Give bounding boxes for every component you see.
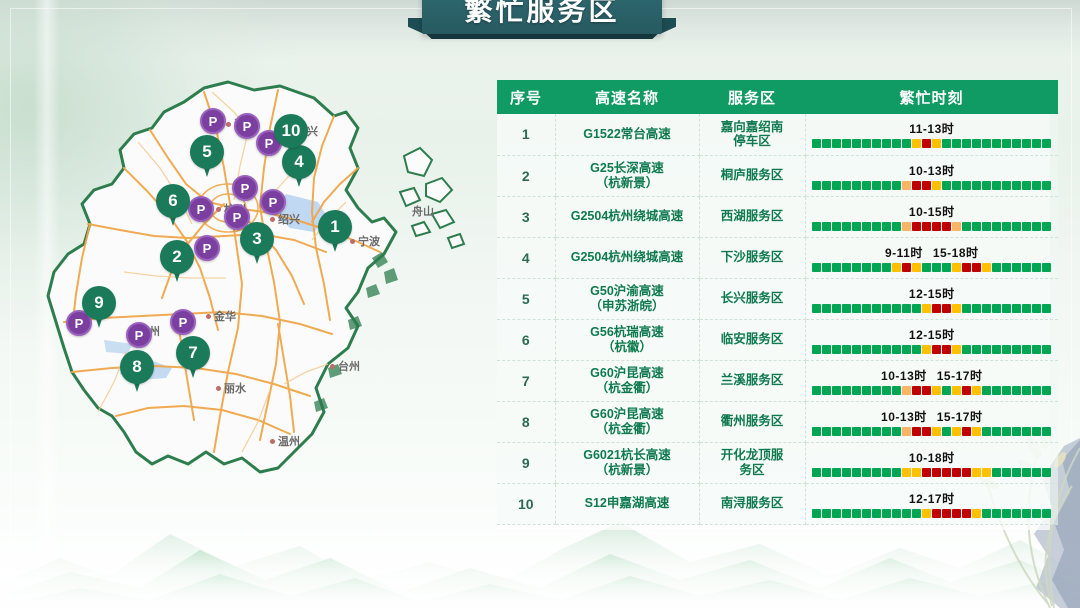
congestion-cell xyxy=(902,345,911,354)
congestion-cell xyxy=(1032,427,1041,436)
cell-highway-name: G56杭瑞高速（杭徽） xyxy=(555,319,699,360)
congestion-cell xyxy=(872,139,881,148)
congestion-cell xyxy=(992,509,1001,518)
busy-time-labels: 10-15时 xyxy=(909,203,955,220)
congestion-cell xyxy=(992,263,1001,272)
congestion-cell xyxy=(852,345,861,354)
cell-busy-time: 10-13时15-17时 xyxy=(805,401,1058,442)
congestion-cell xyxy=(902,427,911,436)
congestion-cell xyxy=(872,427,881,436)
title-banner: 繁忙服务区 xyxy=(408,0,676,46)
congestion-cell xyxy=(812,468,821,477)
busy-time-labels: 12-15时 xyxy=(909,326,955,343)
cell-index: 1 xyxy=(497,114,555,155)
congestion-cell xyxy=(1032,468,1041,477)
congestion-cell xyxy=(972,386,981,395)
congestion-cell xyxy=(1042,468,1051,477)
cell-highway-name: G2504杭州绕城高速 xyxy=(555,237,699,278)
congestion-cell xyxy=(862,222,871,231)
table-row[interactable]: 1G1522常台高速嘉向嘉绍南停车区11-13时 xyxy=(497,114,1058,155)
congestion-cell xyxy=(932,468,941,477)
congestion-cell xyxy=(822,509,831,518)
city-dot xyxy=(206,314,211,319)
col-header-busy-time: 繁忙时刻 xyxy=(805,80,1058,114)
congestion-cell xyxy=(922,386,931,395)
congestion-cell xyxy=(1002,386,1011,395)
page-title: 繁忙服务区 xyxy=(422,0,662,34)
congestion-cell xyxy=(962,509,971,518)
congestion-cell xyxy=(1042,427,1051,436)
congestion-cell xyxy=(812,263,821,272)
cell-service-area: 临安服务区 xyxy=(699,319,805,360)
cell-index: 6 xyxy=(497,319,555,360)
table-header-row: 序号 高速名称 服务区 繁忙时刻 xyxy=(497,80,1058,114)
map-marker-6[interactable]: 6 xyxy=(156,184,190,226)
congestion-cell xyxy=(822,345,831,354)
table-row[interactable]: 5G50沪渝高速（申苏浙皖）长兴服务区12-15时 xyxy=(497,278,1058,319)
col-header-service-area: 服务区 xyxy=(699,80,805,114)
parking-pin-icon[interactable]: P xyxy=(260,189,286,215)
congestion-cell xyxy=(1022,263,1031,272)
congestion-cell xyxy=(1002,139,1011,148)
table-row[interactable]: 8G60沪昆高速（杭金衢）衢州服务区10-13时15-17时 xyxy=(497,401,1058,442)
congestion-cell xyxy=(842,468,851,477)
congestion-cell xyxy=(962,345,971,354)
congestion-cell xyxy=(1022,304,1031,313)
congestion-cell xyxy=(852,509,861,518)
cell-busy-time: 10-15时 xyxy=(805,196,1058,237)
congestion-cell xyxy=(902,181,911,190)
cell-service-area: 衢州服务区 xyxy=(699,401,805,442)
congestion-cell xyxy=(812,427,821,436)
congestion-cell xyxy=(862,139,871,148)
city-label-shaoxing: 绍兴 xyxy=(278,211,300,227)
cell-service-area: 南浔服务区 xyxy=(699,483,805,524)
congestion-cell xyxy=(1022,139,1031,148)
congestion-cell xyxy=(982,386,991,395)
congestion-cell xyxy=(962,222,971,231)
congestion-cell xyxy=(842,345,851,354)
congestion-cell xyxy=(942,263,951,272)
congestion-cell xyxy=(962,427,971,436)
congestion-cell xyxy=(1032,181,1041,190)
congestion-cell xyxy=(822,139,831,148)
cell-busy-time: 10-13时 xyxy=(805,155,1058,196)
congestion-cell xyxy=(902,386,911,395)
congestion-cell xyxy=(1012,139,1021,148)
congestion-cell xyxy=(862,509,871,518)
cell-highway-name: G2504杭州绕城高速 xyxy=(555,196,699,237)
congestion-cell xyxy=(982,427,991,436)
congestion-cell xyxy=(882,181,891,190)
busy-time-labels: 12-15时 xyxy=(909,285,955,302)
hourly-congestion-bar xyxy=(812,181,1051,190)
congestion-cell xyxy=(832,468,841,477)
cell-service-area: 西湖服务区 xyxy=(699,196,805,237)
congestion-cell xyxy=(822,222,831,231)
table-row[interactable]: 7G60沪昆高速（杭金衢）兰溪服务区10-13时15-17时 xyxy=(497,360,1058,401)
congestion-cell xyxy=(952,345,961,354)
congestion-cell xyxy=(912,139,921,148)
congestion-cell xyxy=(872,181,881,190)
congestion-cell xyxy=(1032,509,1041,518)
table-row[interactable]: 4G2504杭州绕城高速下沙服务区9-11时15-18时 xyxy=(497,237,1058,278)
congestion-cell xyxy=(862,427,871,436)
congestion-cell xyxy=(842,427,851,436)
cell-index: 4 xyxy=(497,237,555,278)
cell-index: 7 xyxy=(497,360,555,401)
congestion-cell xyxy=(902,304,911,313)
congestion-cell xyxy=(1022,345,1031,354)
congestion-cell xyxy=(892,181,901,190)
congestion-cell xyxy=(902,139,911,148)
cell-index: 9 xyxy=(497,442,555,483)
busy-time-label: 12-15时 xyxy=(909,285,955,302)
cell-highway-name: G60沪昆高速（杭金衢） xyxy=(555,360,699,401)
congestion-cell xyxy=(992,386,1001,395)
city-label-jinhua: 金华 xyxy=(214,308,236,324)
congestion-cell xyxy=(832,263,841,272)
congestion-cell xyxy=(1002,304,1011,313)
map-marker-4[interactable]: 4 xyxy=(282,145,316,187)
table-body: 1G1522常台高速嘉向嘉绍南停车区11-13时2G25长深高速（杭新景）桐庐服… xyxy=(497,114,1058,524)
congestion-cell xyxy=(882,304,891,313)
congestion-cell xyxy=(952,139,961,148)
congestion-cell xyxy=(862,263,871,272)
congestion-cell xyxy=(942,181,951,190)
congestion-cell xyxy=(922,181,931,190)
busy-time-label: 9-11时 xyxy=(885,244,923,261)
congestion-cell xyxy=(822,468,831,477)
congestion-cell xyxy=(1002,345,1011,354)
congestion-cell xyxy=(842,263,851,272)
congestion-cell xyxy=(932,345,941,354)
cell-service-area: 兰溪服务区 xyxy=(699,360,805,401)
cell-index: 3 xyxy=(497,196,555,237)
congestion-cell xyxy=(1002,468,1011,477)
city-label-zhoushan: 舟山 xyxy=(412,203,434,219)
parking-pin-icon[interactable]: P xyxy=(232,175,258,201)
congestion-cell xyxy=(892,304,901,313)
congestion-cell xyxy=(882,386,891,395)
congestion-cell xyxy=(1002,222,1011,231)
congestion-cell xyxy=(952,181,961,190)
congestion-cell xyxy=(982,263,991,272)
table-row[interactable]: 6G56杭瑞高速（杭徽）临安服务区12-15时 xyxy=(497,319,1058,360)
congestion-cell xyxy=(852,263,861,272)
map-marker-label: 5 xyxy=(190,135,224,169)
hourly-congestion-bar xyxy=(812,427,1051,436)
congestion-cell xyxy=(1022,181,1031,190)
congestion-cell xyxy=(972,468,981,477)
congestion-cell xyxy=(962,263,971,272)
congestion-cell xyxy=(962,304,971,313)
hourly-congestion-bar xyxy=(812,263,1051,272)
map-marker-label: 10 xyxy=(274,114,308,148)
congestion-cell xyxy=(872,222,881,231)
congestion-cell xyxy=(832,386,841,395)
congestion-cell xyxy=(892,509,901,518)
city-dot xyxy=(216,207,221,212)
congestion-cell xyxy=(912,304,921,313)
congestion-cell xyxy=(832,222,841,231)
congestion-cell xyxy=(1012,509,1021,518)
busy-time-label: 15-18时 xyxy=(933,244,979,261)
map-marker-label: 3 xyxy=(240,222,274,256)
congestion-cell xyxy=(882,345,891,354)
congestion-cell xyxy=(992,345,1001,354)
congestion-cell xyxy=(952,386,961,395)
congestion-cell xyxy=(822,263,831,272)
busy-time-labels: 9-11时15-18时 xyxy=(885,244,979,261)
congestion-cell xyxy=(982,139,991,148)
cell-index: 2 xyxy=(497,155,555,196)
busy-time-label: 10-18时 xyxy=(909,449,955,466)
col-header-highway: 高速名称 xyxy=(555,80,699,114)
congestion-cell xyxy=(812,345,821,354)
busy-service-area-table: 序号 高速名称 服务区 繁忙时刻 1G1522常台高速嘉向嘉绍南停车区11-13… xyxy=(497,80,1050,530)
congestion-cell xyxy=(972,509,981,518)
congestion-cell xyxy=(852,222,861,231)
congestion-cell xyxy=(832,139,841,148)
congestion-cell xyxy=(892,386,901,395)
congestion-cell xyxy=(912,222,921,231)
cell-service-area: 开化龙顶服务区 xyxy=(699,442,805,483)
city-dot xyxy=(270,439,275,444)
congestion-cell xyxy=(942,139,951,148)
congestion-cell xyxy=(1022,509,1031,518)
congestion-cell xyxy=(942,304,951,313)
congestion-cell xyxy=(912,345,921,354)
cell-service-area: 嘉向嘉绍南停车区 xyxy=(699,114,805,155)
congestion-cell xyxy=(912,468,921,477)
cell-highway-name: G25长深高速（杭新景） xyxy=(555,155,699,196)
congestion-cell xyxy=(832,181,841,190)
congestion-cell xyxy=(882,139,891,148)
busy-time-labels: 10-18时 xyxy=(909,449,955,466)
congestion-cell xyxy=(822,181,831,190)
congestion-cell xyxy=(952,304,961,313)
congestion-cell xyxy=(872,468,881,477)
congestion-cell xyxy=(832,345,841,354)
congestion-cell xyxy=(912,427,921,436)
city-label-ningbo: 宁波 xyxy=(358,233,380,249)
busy-time-labels: 10-13时 xyxy=(909,162,955,179)
banner-right-wing xyxy=(660,18,676,34)
parking-pin-icon[interactable]: P xyxy=(194,235,220,261)
congestion-cell xyxy=(962,386,971,395)
congestion-cell xyxy=(982,509,991,518)
map-marker-3[interactable]: 3 xyxy=(240,222,274,264)
congestion-cell xyxy=(952,222,961,231)
congestion-cell xyxy=(812,222,821,231)
hourly-congestion-bar xyxy=(812,509,1051,518)
congestion-cell xyxy=(872,263,881,272)
congestion-cell xyxy=(892,427,901,436)
map-marker-8[interactable]: 8 xyxy=(120,350,154,392)
congestion-cell xyxy=(812,386,821,395)
congestion-cell xyxy=(1022,468,1031,477)
cell-busy-time: 9-11时15-18时 xyxy=(805,237,1058,278)
parking-pin-icon[interactable]: P xyxy=(200,108,226,134)
congestion-cell xyxy=(972,304,981,313)
busy-time-label: 10-13时 xyxy=(909,162,955,179)
congestion-cell xyxy=(972,263,981,272)
congestion-cell xyxy=(982,181,991,190)
parking-pin-icon[interactable]: P xyxy=(126,322,152,348)
congestion-cell xyxy=(1002,427,1011,436)
congestion-cell xyxy=(972,427,981,436)
cell-service-area: 长兴服务区 xyxy=(699,278,805,319)
congestion-cell xyxy=(1042,263,1051,272)
congestion-cell xyxy=(992,181,1001,190)
hourly-congestion-bar xyxy=(812,386,1051,395)
congestion-cell xyxy=(1032,222,1041,231)
map-marker-1[interactable]: 1 xyxy=(318,210,352,252)
congestion-cell xyxy=(1012,222,1021,231)
congestion-cell xyxy=(922,222,931,231)
congestion-cell xyxy=(922,468,931,477)
congestion-cell xyxy=(942,468,951,477)
cell-busy-time: 12-15时 xyxy=(805,278,1058,319)
congestion-cell xyxy=(842,139,851,148)
cell-highway-name: G50沪渝高速（申苏浙皖） xyxy=(555,278,699,319)
congestion-cell xyxy=(962,181,971,190)
congestion-cell xyxy=(842,386,851,395)
congestion-cell xyxy=(862,181,871,190)
congestion-cell xyxy=(922,427,931,436)
hourly-congestion-bar xyxy=(812,139,1051,148)
congestion-cell xyxy=(972,139,981,148)
hourly-congestion-bar xyxy=(812,304,1051,313)
congestion-cell xyxy=(952,263,961,272)
congestion-cell xyxy=(952,509,961,518)
congestion-cell xyxy=(852,181,861,190)
congestion-cell xyxy=(972,222,981,231)
congestion-cell xyxy=(1012,263,1021,272)
map-marker-label: 4 xyxy=(282,145,316,179)
congestion-cell xyxy=(852,304,861,313)
table-row[interactable]: 9G6021杭长高速（杭新景）开化龙顶服务区10-18时 xyxy=(497,442,1058,483)
congestion-cell xyxy=(932,263,941,272)
congestion-cell xyxy=(992,427,1001,436)
congestion-cell xyxy=(1012,468,1021,477)
map-marker-label: 1 xyxy=(318,210,352,244)
table-row[interactable]: 3G2504杭州绕城高速西湖服务区10-15时 xyxy=(497,196,1058,237)
congestion-cell xyxy=(892,222,901,231)
congestion-cell xyxy=(962,139,971,148)
congestion-cell xyxy=(932,139,941,148)
busy-time-labels: 12-17时 xyxy=(909,490,955,507)
congestion-cell xyxy=(842,181,851,190)
busy-time-label: 15-17时 xyxy=(937,408,983,425)
congestion-cell xyxy=(1032,263,1041,272)
parking-pin-icon[interactable]: P xyxy=(234,113,260,139)
congestion-cell xyxy=(1002,509,1011,518)
congestion-cell xyxy=(972,181,981,190)
busy-time-label: 11-13时 xyxy=(909,120,954,137)
map-marker-7[interactable]: 7 xyxy=(176,336,210,378)
congestion-cell xyxy=(852,427,861,436)
congestion-cell xyxy=(1002,263,1011,272)
congestion-cell xyxy=(902,263,911,272)
busy-time-label: 12-17时 xyxy=(909,490,955,507)
congestion-cell xyxy=(902,222,911,231)
map-marker-label: 6 xyxy=(156,184,190,218)
congestion-cell xyxy=(872,386,881,395)
cell-highway-name: G1522常台高速 xyxy=(555,114,699,155)
congestion-cell xyxy=(1012,345,1021,354)
congestion-cell xyxy=(812,139,821,148)
congestion-cell xyxy=(932,427,941,436)
congestion-cell xyxy=(942,509,951,518)
busy-time-label: 12-15时 xyxy=(909,326,955,343)
map-marker-5[interactable]: 5 xyxy=(190,135,224,177)
parking-pin-icon[interactable]: P xyxy=(188,196,214,222)
congestion-cell xyxy=(1032,386,1041,395)
congestion-cell xyxy=(992,139,1001,148)
congestion-cell xyxy=(942,386,951,395)
congestion-cell xyxy=(922,139,931,148)
parking-pin-icon[interactable]: P xyxy=(170,309,196,335)
congestion-cell xyxy=(922,263,931,272)
cell-busy-time: 10-13时15-17时 xyxy=(805,360,1058,401)
table-row[interactable]: 10S12申嘉湖高速南浔服务区12-17时 xyxy=(497,483,1058,524)
map-marker-2[interactable]: 2 xyxy=(160,240,194,282)
congestion-cell xyxy=(862,304,871,313)
congestion-cell xyxy=(922,509,931,518)
congestion-cell xyxy=(842,304,851,313)
busy-time-labels: 10-13时15-17时 xyxy=(881,408,982,425)
congestion-cell xyxy=(912,263,921,272)
table-head: 序号 高速名称 服务区 繁忙时刻 xyxy=(497,80,1058,114)
congestion-cell xyxy=(1042,304,1051,313)
congestion-cell xyxy=(1002,181,1011,190)
congestion-cell xyxy=(912,386,921,395)
congestion-cell xyxy=(872,345,881,354)
congestion-cell xyxy=(882,222,891,231)
congestion-cell xyxy=(992,304,1001,313)
busy-time-labels: 11-13时 xyxy=(909,120,954,137)
congestion-cell xyxy=(972,345,981,354)
cell-busy-time: 11-13时 xyxy=(805,114,1058,155)
congestion-cell xyxy=(882,509,891,518)
table-row[interactable]: 2G25长深高速（杭新景）桐庐服务区10-13时 xyxy=(497,155,1058,196)
cell-busy-time: 12-15时 xyxy=(805,319,1058,360)
congestion-cell xyxy=(842,509,851,518)
congestion-cell xyxy=(892,345,901,354)
congestion-cell xyxy=(982,304,991,313)
congestion-cell xyxy=(932,386,941,395)
congestion-cell xyxy=(872,304,881,313)
congestion-cell xyxy=(982,468,991,477)
cell-highway-name: G60沪昆高速（杭金衢） xyxy=(555,401,699,442)
congestion-cell xyxy=(1012,181,1021,190)
congestion-cell xyxy=(1042,139,1051,148)
data-table: 序号 高速名称 服务区 繁忙时刻 1G1522常台高速嘉向嘉绍南停车区11-13… xyxy=(497,80,1058,525)
congestion-cell xyxy=(812,181,821,190)
congestion-cell xyxy=(942,427,951,436)
map-marker-9[interactable]: 9 xyxy=(82,286,116,328)
col-header-index: 序号 xyxy=(497,80,555,114)
city-dot xyxy=(216,386,221,391)
cell-index: 8 xyxy=(497,401,555,442)
congestion-cell xyxy=(1012,304,1021,313)
congestion-cell xyxy=(922,304,931,313)
congestion-cell xyxy=(932,304,941,313)
map-marker-label: 9 xyxy=(82,286,116,320)
congestion-cell xyxy=(912,509,921,518)
